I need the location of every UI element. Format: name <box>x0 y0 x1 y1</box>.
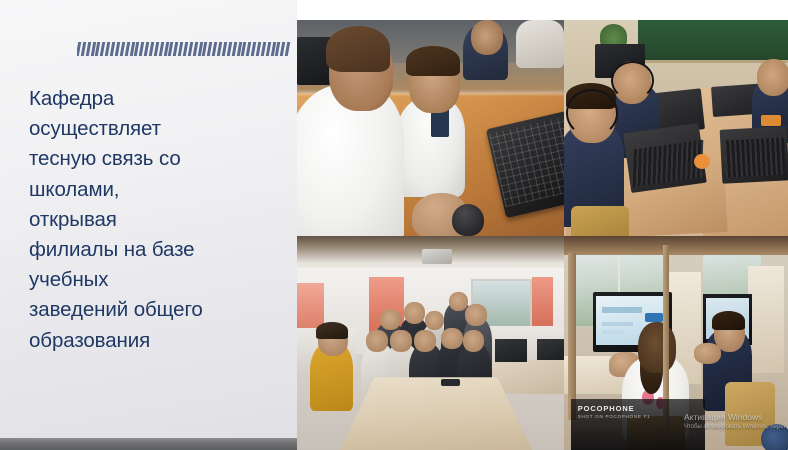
photo-tint <box>297 236 564 450</box>
computer-mouse <box>452 204 484 236</box>
slide-headline: Кафедра осуществляет тесную связь со шко… <box>29 84 281 356</box>
orange-folder <box>761 115 781 126</box>
panel-footer-bar <box>0 438 297 450</box>
photo-top-left <box>297 20 564 236</box>
headset-icon <box>611 61 654 100</box>
screen-text-line-2 <box>602 330 624 334</box>
presentation-slide: Кафедра осуществляет тесную связь со шко… <box>0 0 788 450</box>
pupil-boy-arm <box>694 343 721 364</box>
screen-toolbar <box>602 307 642 313</box>
partition-post-left <box>568 253 576 420</box>
text-panel: Кафедра осуществляет тесную связь со шко… <box>0 0 297 438</box>
green-chalkboard <box>638 20 788 63</box>
windows-activation-subtitle: Чтобы активировать Windows, перейдите <box>684 423 788 432</box>
windows-activation-watermark: Активация Windows Чтобы активировать Win… <box>684 412 788 432</box>
hatch-decoration <box>77 42 291 56</box>
pupil-girl-head <box>638 322 676 373</box>
workstation-partition-right <box>748 266 784 373</box>
background-person-shape <box>516 20 564 68</box>
windows-activation-title: Активация Windows <box>684 412 788 423</box>
teacher-hair <box>326 26 390 71</box>
photo-bottom-right: POCOPHONE SHOT ON POCOPHONE F1 Активация… <box>564 236 788 450</box>
pupil-hair <box>406 46 459 76</box>
headset-front-icon <box>566 89 618 137</box>
photo-grid: POCOPHONE SHOT ON POCOPHONE F1 Активация… <box>297 20 788 450</box>
wooden-chair <box>571 206 629 236</box>
orange-object <box>694 154 710 169</box>
screen-text-line-1 <box>602 322 633 326</box>
photo-bottom-left <box>297 236 564 450</box>
pupil-right-head <box>757 59 788 96</box>
hatch-bar <box>285 42 291 56</box>
pupil-boy-hair <box>712 311 746 330</box>
background-student-head <box>471 20 503 55</box>
photo-top-right <box>564 20 788 236</box>
ceiling-beam <box>564 236 788 255</box>
screen-button <box>645 313 663 322</box>
laptop-right-keyboard <box>724 137 786 177</box>
